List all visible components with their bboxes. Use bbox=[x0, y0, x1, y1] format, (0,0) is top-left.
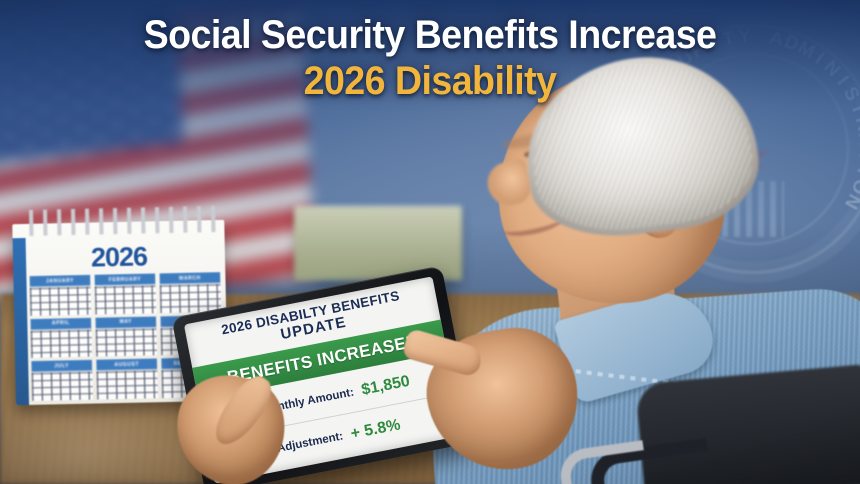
calendar-month-name: FEBRUARY bbox=[94, 273, 155, 285]
cola-adjustment-value: + 5.8% bbox=[349, 416, 402, 443]
thumbnail-image: SOCIAL SECURITY ADMINISTRATION 2026 JANU… bbox=[0, 0, 860, 484]
calendar-year: 2026 bbox=[13, 240, 226, 275]
calendar-month: FEBRUARY bbox=[94, 273, 156, 314]
calendar-spiral-binding bbox=[24, 206, 219, 236]
calendar-month-days bbox=[31, 372, 93, 401]
calendar-month-days bbox=[95, 285, 157, 314]
calendar-month: JULY bbox=[31, 360, 93, 401]
calendar-month: JANUARY bbox=[29, 275, 91, 316]
calendar-month-days bbox=[160, 284, 222, 313]
calendar-month: AUGUST bbox=[96, 359, 158, 400]
calendar-month: MARCH bbox=[159, 272, 221, 313]
calendar-month-days bbox=[96, 371, 158, 400]
calendar-month-name: MAY bbox=[95, 316, 156, 328]
white-hair bbox=[516, 45, 766, 247]
calendar-month-name: JANUARY bbox=[29, 275, 90, 287]
calendar-month-days bbox=[95, 328, 157, 357]
calendar-month-name: MARCH bbox=[159, 272, 220, 284]
calendar-month-name: AUGUST bbox=[96, 359, 157, 371]
calendar-month-days bbox=[30, 287, 92, 316]
calendar-month-days bbox=[31, 329, 93, 358]
calendar-month-name: APRIL bbox=[30, 317, 91, 329]
monthly-amount-value: $1,850 bbox=[360, 373, 411, 400]
calendar-month: APRIL bbox=[30, 317, 92, 358]
calendar-month: MAY bbox=[95, 316, 157, 357]
calendar-month-name: JULY bbox=[31, 360, 92, 372]
